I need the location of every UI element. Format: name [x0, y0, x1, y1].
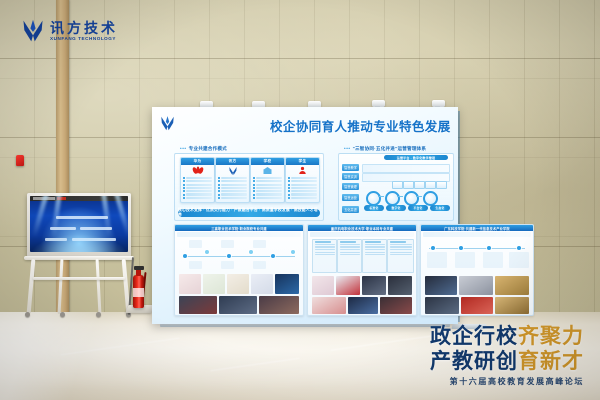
- stand-caster: [60, 312, 65, 317]
- logo-text-en: XUNFANG TECHNOLOGY: [50, 37, 118, 42]
- diagram-row: [362, 164, 450, 173]
- model-card[interactable]: 讯方: [215, 157, 250, 203]
- school-building-icon: [251, 165, 284, 176]
- model-card[interactable]: 学校: [250, 157, 285, 203]
- wall-fire-alarm: [16, 155, 24, 166]
- stand-caster: [25, 312, 30, 317]
- card-header: 学生: [286, 158, 319, 165]
- diagram-top-tag: 运营平台 · 数字化教学管理: [384, 155, 448, 160]
- section-heading-right: •••"三智协同·五化并进"运营管理体系: [344, 146, 426, 152]
- diagram-circle: [385, 191, 400, 206]
- logo-text-cn: 讯方技术: [50, 21, 118, 35]
- board-spotlight: [372, 100, 385, 107]
- fire-extinguisher-label: [133, 288, 144, 297]
- model-card[interactable]: 学生: [285, 157, 320, 203]
- case-study-panel[interactable]: 三高职业技术学院·职业院校专业共建: [174, 224, 304, 316]
- cooperation-ribbon: 核心技术支撑 · 优质交付能力 · 产教融合平台 · 高质量学校发展 · 高技能…: [178, 209, 320, 217]
- stand-caster: [96, 312, 101, 317]
- diagram-circle: [404, 191, 419, 206]
- case-study-panel[interactable]: 重庆机电职业技术大学·职业本科专业共建: [307, 224, 417, 316]
- diagram-circle: [366, 191, 381, 206]
- slogan-line-2: 产教研创育新才: [430, 351, 584, 372]
- diagram-circle: [423, 191, 438, 206]
- diagram-row-label: 智慧实训: [342, 173, 359, 180]
- tv-stage-glow: [30, 234, 128, 252]
- diagram-foot-chip: 标准化: [364, 205, 384, 211]
- diagram-row-label: 五化并进: [342, 206, 359, 213]
- diagram-foot-chip: 平台化: [408, 205, 428, 211]
- exhibition-poster-board: 校企协同育人推动专业特色发展 •••专业共建合作模式 华为: [152, 107, 458, 324]
- student-person-icon: [286, 165, 319, 176]
- huawei-flower-icon: [181, 165, 214, 176]
- xunfang-mark-icon: [216, 165, 249, 176]
- stand-cross-rail: [33, 277, 125, 280]
- board-spotlight: [432, 100, 445, 107]
- tv-bezel: [27, 193, 131, 257]
- diagram-row-label: 智慧教学: [342, 164, 359, 171]
- forum-subtitle: 第十六届高校教育发展高峰论坛: [430, 378, 584, 386]
- forum-slogan: 政企行校齐聚力 产教研创育新才 第十六届高校教育发展高峰论坛: [430, 326, 584, 386]
- fire-extinguisher-neck: [136, 269, 141, 276]
- case-study-panel[interactable]: 广东科技学院·共建新一代信息技术产业学院: [420, 224, 534, 316]
- board-title: 校企协同育人推动专业特色发展: [270, 116, 451, 135]
- case-title: 广东科技学院·共建新一代信息技术产业学院: [421, 225, 533, 231]
- case-title: 三高职业技术学院·职业院校专业共建: [175, 225, 303, 231]
- case-title: 重庆机电职业技术大学·职业本科专业共建: [308, 225, 416, 231]
- diagram-foot-chip: 数字化: [386, 205, 406, 211]
- diagram-row-label: 智慧运营: [342, 194, 359, 201]
- stand-top-rail: [24, 256, 134, 260]
- tv-screen[interactable]: [30, 196, 128, 252]
- card-header: 华为: [181, 158, 214, 165]
- case-subtitle: [423, 232, 531, 237]
- fire-extinguisher-handle: [134, 266, 144, 270]
- exhibition-photo-scene: 讯方技术 XUNFANG TECHNOLOGY: [0, 0, 600, 400]
- xunfang-mark-icon: [20, 18, 46, 44]
- case-subtitle: [310, 232, 414, 237]
- wall-seam: [0, 58, 600, 59]
- diagram-foot-chip: 生态化: [430, 205, 450, 211]
- case-subtitle: [177, 232, 301, 237]
- card-header: 讯方: [216, 158, 249, 165]
- card-header: 学校: [251, 158, 284, 165]
- company-logo: 讯方技术 XUNFANG TECHNOLOGY: [20, 18, 118, 44]
- diagram-row-label: 智慧管理: [342, 183, 359, 190]
- model-card[interactable]: 华为: [180, 157, 215, 203]
- wall-display-on-mobile-stand: [27, 193, 131, 257]
- board-xunfang-logo-icon: [159, 115, 176, 132]
- slogan-line-1: 政企行校齐聚力: [430, 326, 584, 347]
- section-heading-left: •••专业共建合作模式: [180, 146, 227, 152]
